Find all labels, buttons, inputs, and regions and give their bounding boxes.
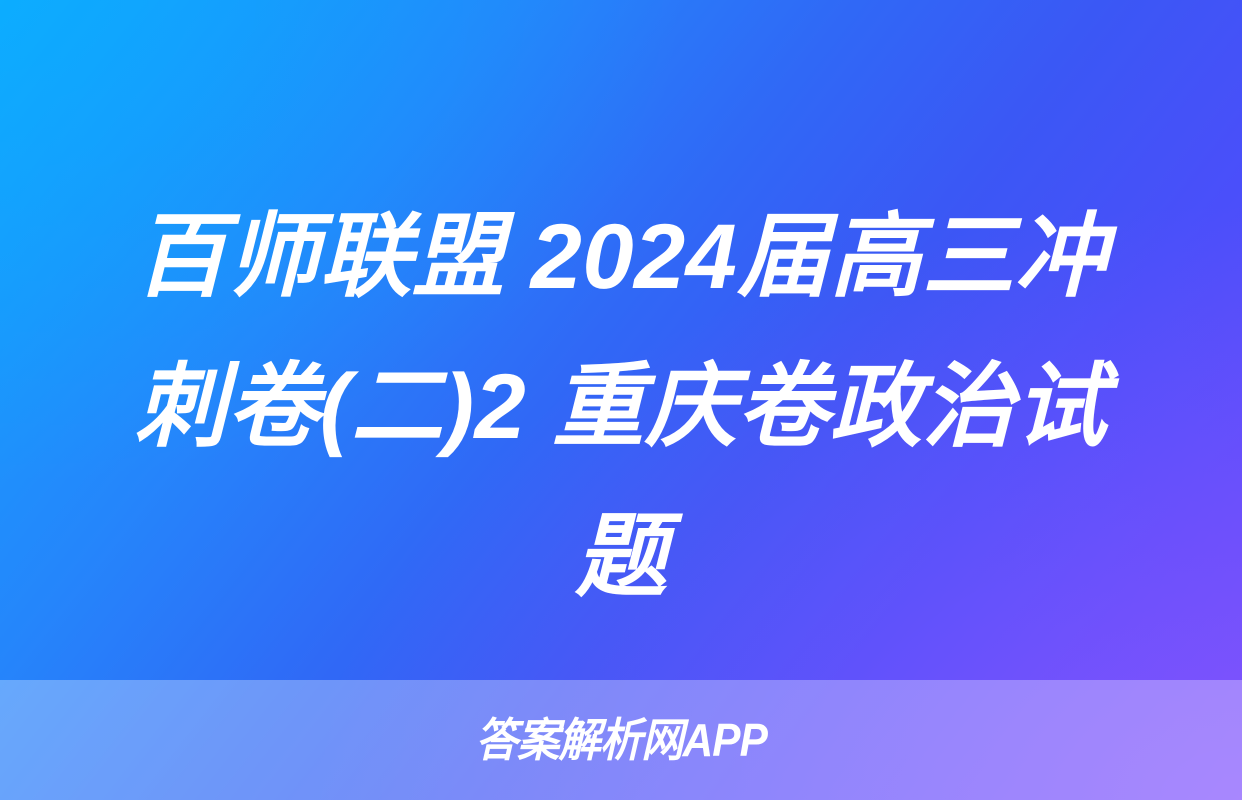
page-title: 百师联盟 2024届高三冲 刺卷(二)2 重庆卷政治试 题 [0,182,1242,632]
title-line-1: 百师联盟 2024届高三冲 [72,182,1170,332]
watermark-brand-label: 答案解析网APP [475,717,766,763]
watermark-band: 答案解析网APP [0,680,1242,800]
title-line-3: 题 [72,482,1170,632]
cover-card: 百师联盟 2024届高三冲 刺卷(二)2 重庆卷政治试 题 答案解析网APP [0,0,1242,800]
title-line-2: 刺卷(二)2 重庆卷政治试 [72,332,1170,482]
